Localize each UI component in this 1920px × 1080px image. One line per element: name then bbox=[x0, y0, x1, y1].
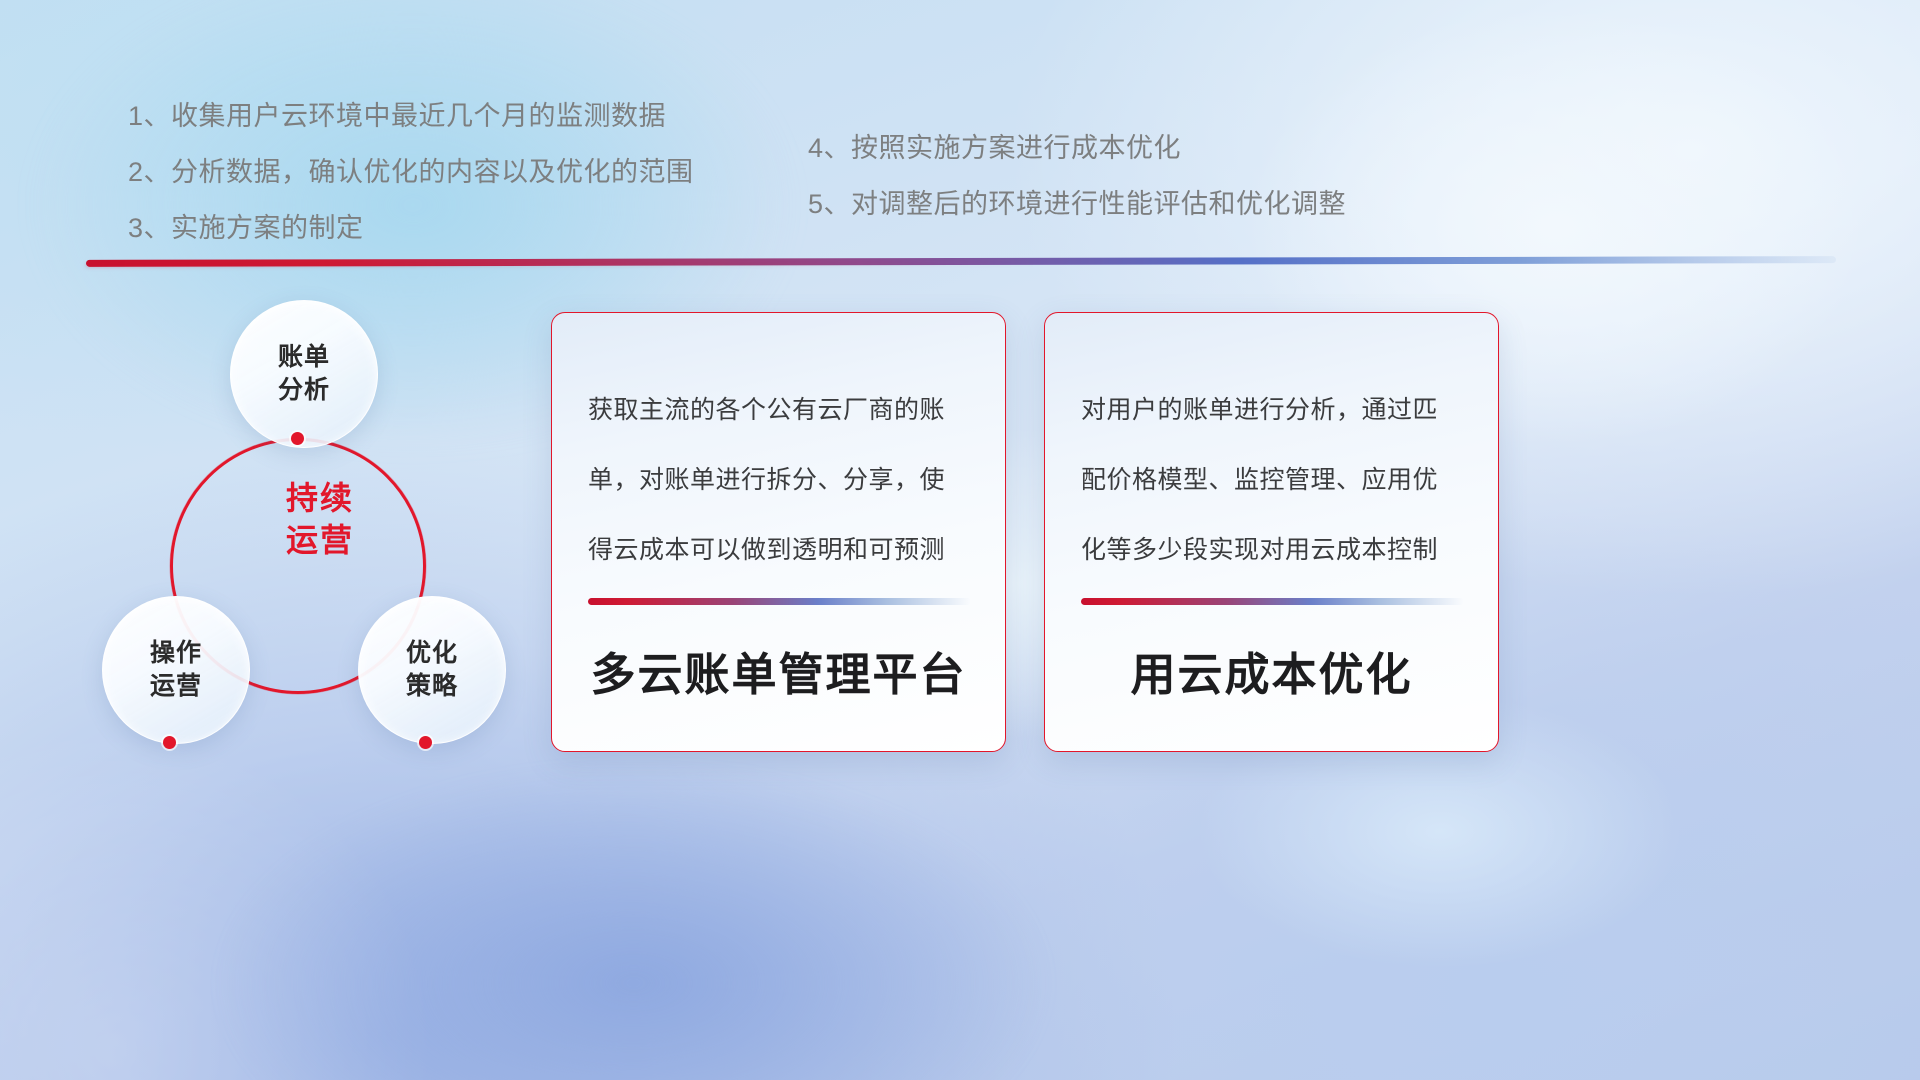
center-ring-label-line2: 运营 bbox=[240, 520, 400, 562]
node-dot-top bbox=[291, 432, 304, 445]
list-item: 3、实施方案的制定 bbox=[128, 200, 694, 256]
bubble-operations[interactable]: 操作运营 bbox=[102, 596, 250, 744]
bubble-right-label: 优化策略 bbox=[406, 637, 458, 703]
card-accent-rule bbox=[1081, 598, 1464, 605]
bubble-top-label: 账单分析 bbox=[278, 341, 330, 407]
bubble-optimization-strategy[interactable]: 优化策略 bbox=[358, 596, 506, 744]
card-cloud-cost-optimization[interactable]: 对用户的账单进行分析，通过匹配价格模型、监控管理、应用优化等多少段实现对用云成本… bbox=[1044, 312, 1499, 752]
card-title: 用云成本优化 bbox=[1045, 638, 1498, 703]
list-item: 4、按照实施方案进行成本优化 bbox=[808, 120, 1346, 176]
bubble-right-line1: 优化 bbox=[406, 639, 458, 667]
bubble-billing-analysis[interactable]: 账单分析 bbox=[230, 300, 378, 448]
center-ring-label-line1: 持续 bbox=[240, 478, 400, 520]
bubble-left-line1: 操作 bbox=[150, 639, 202, 667]
bubble-left-label: 操作运营 bbox=[150, 637, 202, 703]
card-body-text: 对用户的账单进行分析，通过匹配价格模型、监控管理、应用优化等多少段实现对用云成本… bbox=[1081, 375, 1462, 585]
list-item: 2、分析数据，确认优化的内容以及优化的范围 bbox=[128, 144, 694, 200]
bubble-top-line1: 账单 bbox=[278, 343, 330, 371]
card-accent-rule bbox=[588, 598, 971, 605]
node-dot-right bbox=[419, 736, 432, 749]
card-multicloud-billing-platform[interactable]: 获取主流的各个公有云厂商的账单，对账单进行拆分、分享，使得云成本可以做到透明和可… bbox=[551, 312, 1006, 752]
card-title: 多云账单管理平台 bbox=[552, 638, 1005, 703]
process-steps-list: 1、收集用户云环境中最近几个月的监测数据 2、分析数据，确认优化的内容以及优化的… bbox=[0, 88, 1920, 258]
card-body-text: 获取主流的各个公有云厂商的账单，对账单进行拆分、分享，使得云成本可以做到透明和可… bbox=[588, 375, 969, 585]
bubble-top-line2: 分析 bbox=[278, 376, 330, 404]
node-dot-left bbox=[163, 736, 176, 749]
bubble-right-line2: 策略 bbox=[406, 672, 458, 700]
bubble-left-line2: 运营 bbox=[150, 672, 202, 700]
venn-diagram: 持续 运营 账单分析 操作运营 优化策略 bbox=[80, 288, 550, 788]
center-ring-label: 持续 运营 bbox=[240, 478, 400, 561]
list-item: 5、对调整后的环境进行性能评估和优化调整 bbox=[808, 176, 1346, 232]
steps-right-column: 4、按照实施方案进行成本优化 5、对调整后的环境进行性能评估和优化调整 bbox=[808, 120, 1346, 232]
steps-left-column: 1、收集用户云环境中最近几个月的监测数据 2、分析数据，确认优化的内容以及优化的… bbox=[128, 88, 694, 256]
list-item: 1、收集用户云环境中最近几个月的监测数据 bbox=[128, 88, 694, 144]
